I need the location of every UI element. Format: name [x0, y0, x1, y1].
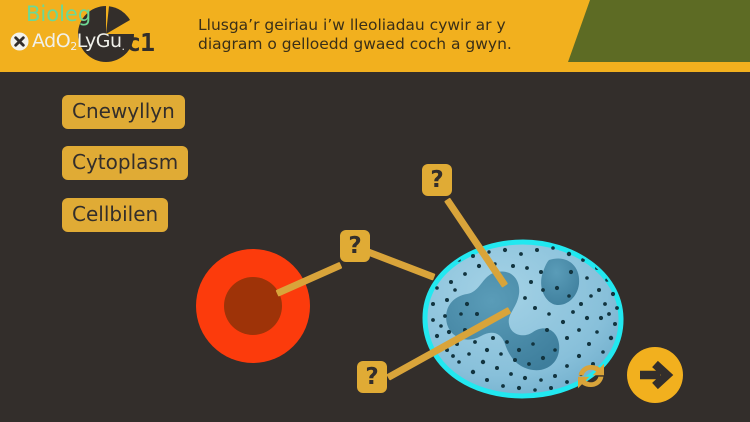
reset-button[interactable]	[575, 360, 607, 392]
red-blood-cell-center	[224, 277, 282, 335]
red-blood-cell	[196, 249, 310, 363]
brand-logo-sub-2: .	[122, 40, 125, 53]
brand-panel	[568, 0, 750, 62]
drop-target-nucleus[interactable]: ?	[357, 361, 387, 393]
instruction-text: Llusga’r geiriau i’w lleoliadau cywir ar…	[198, 16, 568, 54]
drop-target-membrane[interactable]: ?	[340, 230, 370, 262]
brand-logo-main: AdO	[32, 30, 70, 52]
next-button[interactable]	[627, 347, 683, 403]
brand-logo-mid: LyGu	[77, 30, 122, 52]
word-tile-cytoplasm[interactable]: Cytoplasm	[62, 146, 188, 180]
brand-logo-text: AdO2LyGu.	[32, 30, 125, 53]
word-tile-cnewyllyn[interactable]: Cnewyllyn	[62, 95, 185, 129]
subject-title: Bioleg	[26, 2, 91, 26]
brand-logo: AdO2LyGu.	[10, 30, 125, 53]
refresh-icon	[578, 364, 604, 388]
x-circle-icon	[10, 32, 29, 51]
arrow-right-icon	[627, 347, 683, 403]
drop-target-cytoplasm[interactable]: ?	[422, 164, 452, 196]
activity-screen: c1 Llusga’r geiriau i’w lleoliadau cywir…	[0, 0, 750, 422]
logo-label: c1	[126, 28, 154, 57]
word-tile-cellbilen[interactable]: Cellbilen	[62, 198, 168, 232]
